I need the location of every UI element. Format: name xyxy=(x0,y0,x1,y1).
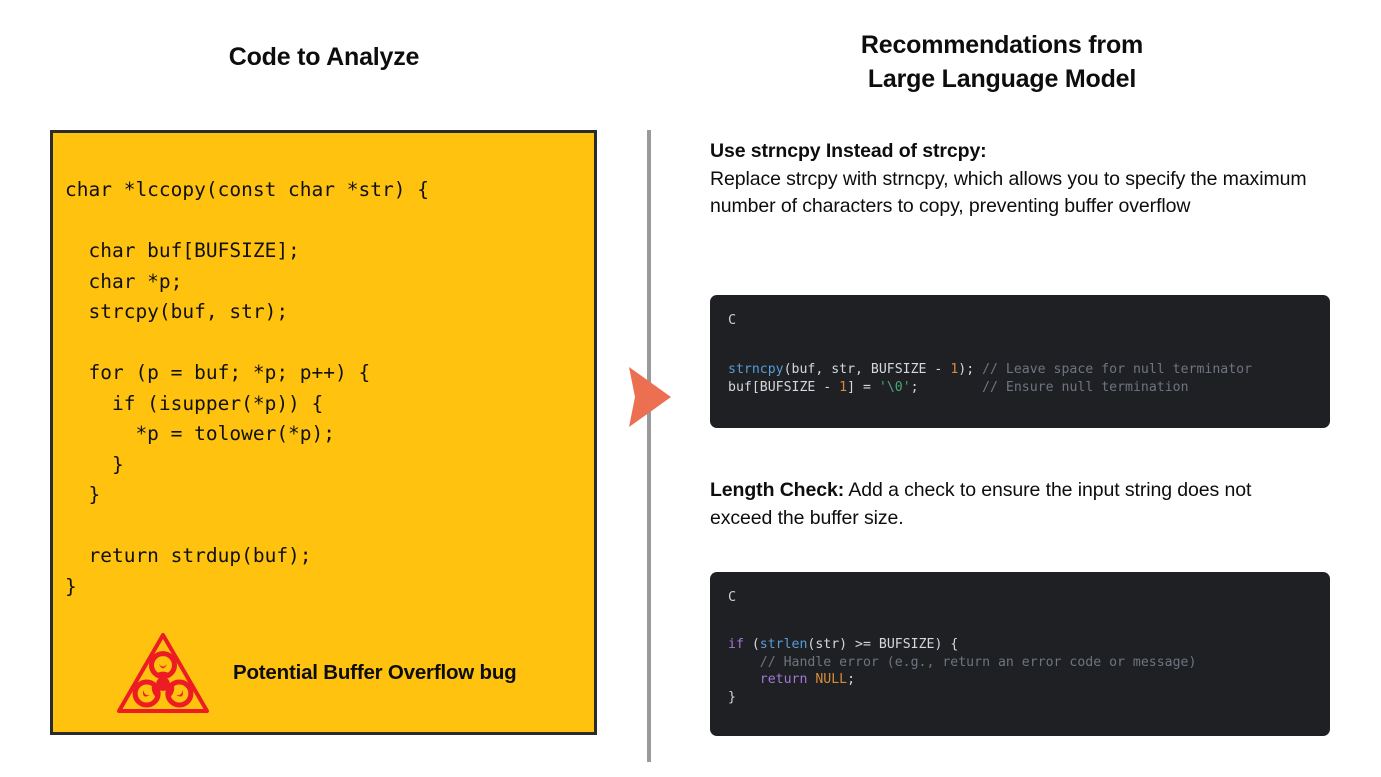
page-title-recommendations-line1: Recommendations from xyxy=(690,28,1314,62)
code-content-2: if (strlen(str) >= BUFSIZE) { // Handle … xyxy=(728,636,1312,706)
source-code-block: char *lccopy(const char *str) { char buf… xyxy=(65,175,429,602)
code-language-label-2: C xyxy=(728,588,1312,606)
recommendation-2-title: Length Check: xyxy=(710,479,844,501)
page-title-code-to-analyze: Code to Analyze xyxy=(48,40,600,74)
recommendation-1-code-block: C strncpy(buf, str, BUFSIZE - 1); // Lea… xyxy=(710,295,1330,428)
recommendation-2: Length Check: Add a check to ensure the … xyxy=(710,477,1310,532)
recommendation-1-text: Use strncpy Instead of strcpy: Replace s… xyxy=(710,138,1330,221)
code-to-analyze-card: char *lccopy(const char *str) { char buf… xyxy=(50,130,597,735)
recommendation-1: Use strncpy Instead of strcpy: Replace s… xyxy=(710,138,1330,221)
warning-label: Potential Buffer Overflow bug xyxy=(233,661,517,685)
code-content-1: strncpy(buf, str, BUFSIZE - 1); // Leave… xyxy=(728,361,1312,396)
recommendation-2-text: Length Check: Add a check to ensure the … xyxy=(710,477,1310,532)
page-title-recommendations: Recommendations from Large Language Mode… xyxy=(690,28,1314,96)
biohazard-icon xyxy=(115,630,211,716)
buffer-overflow-warning: Potential Buffer Overflow bug xyxy=(115,630,517,716)
code-language-label-1: C xyxy=(728,311,1312,329)
right-arrow-icon xyxy=(629,367,671,427)
recommendation-1-title: Use strncpy Instead of strcpy: xyxy=(710,140,987,162)
recommendation-1-body: Replace strcpy with strncpy, which allow… xyxy=(710,168,1306,218)
panel-divider xyxy=(647,130,651,762)
page-title-recommendations-line2: Large Language Model xyxy=(690,62,1314,96)
recommendation-2-code-block: C if (strlen(str) >= BUFSIZE) { // Handl… xyxy=(710,572,1330,736)
